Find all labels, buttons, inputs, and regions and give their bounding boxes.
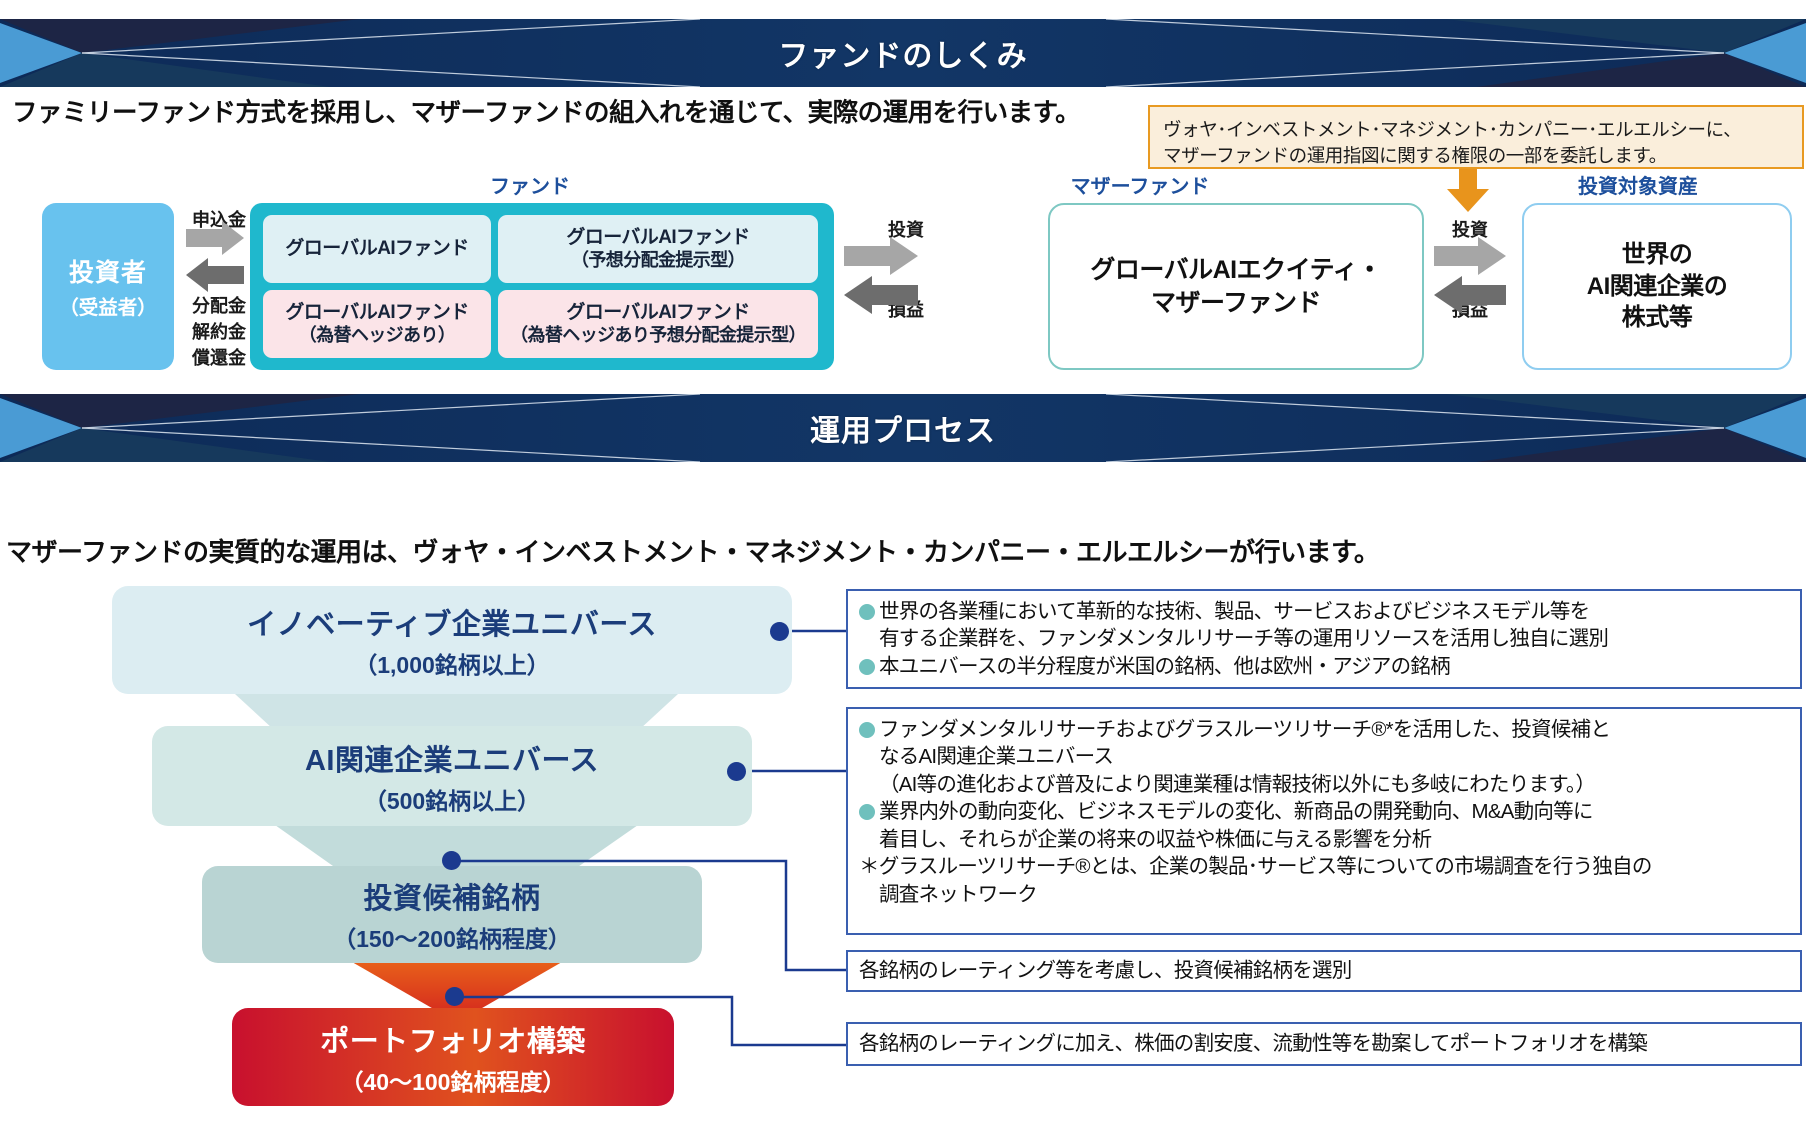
info-box-portfolio: 各銘柄のレーティングに加え、株価の割安度、流動性等を勘案してポートフォリオを構築 (846, 1022, 1802, 1066)
fund-cell-3: グローバルAIファンド （為替ヘッジあり予想分配金提示型） (498, 290, 818, 358)
funnel-stage-2: 投資候補銘柄 （150〜200銘柄程度） (202, 866, 702, 963)
connector-dot-2 (442, 851, 461, 870)
info-row: 各銘柄のレーティング等を考慮し、投資候補銘柄を選別 (859, 957, 1352, 984)
info-row-text: 各銘柄のレーティングに加え、株価の割安度、流動性等を勘案してポートフォリオを構築 (859, 1030, 1647, 1057)
investor-label-secondary: （受益者） (59, 291, 157, 320)
funnel-stage-3: ポートフォリオ構築 （40〜100銘柄程度） (232, 1008, 674, 1106)
fund-cell-3-sub: （為替ヘッジあり予想分配金提示型） (510, 325, 806, 347)
connector-dot-0 (770, 622, 789, 641)
fund-cell-1-sub: （予想分配金提示型） (571, 250, 745, 272)
info-row: ＊グラスルーツリサーチ®とは、企業の製品･サービス等についての市場調査を行う独自… (859, 853, 1790, 880)
funnel-stage-3-count: （40〜100銘柄程度） (341, 1063, 566, 1097)
flow-label-redemption: 解約金 (192, 318, 246, 344)
info-row-text: 世界の各業種において革新的な技術、製品、サービスおよびビジネスモデル等を (879, 598, 1589, 625)
funnel-stage-1: AI関連企業ユニバース （500銘柄以上） (152, 726, 752, 826)
target-asset-box: 世界の AI関連企業の 株式等 (1522, 203, 1792, 370)
flow-label-distribution: 分配金 (192, 292, 246, 318)
fund-cell-2-sub: （為替ヘッジあり） (299, 325, 456, 347)
info-box-ai-universe: ファンダメンタルリサーチおよびグラスルーツリサーチ®*を活用した、投資候補と な… (846, 707, 1802, 935)
flow-label-profit-1: 損益 (888, 296, 924, 322)
connector-dot-1 (727, 762, 746, 781)
info-box-universe: 世界の各業種において革新的な技術、製品、サービスおよびビジネスモデル等を 有する… (846, 589, 1802, 689)
bullet-icon (859, 604, 875, 620)
flow-label-invest-2: 投資 (1452, 216, 1488, 242)
section-title-investment-process: 運用プロセス (0, 394, 1806, 462)
fund-cell-3-name: グローバルAIファンド (566, 301, 749, 324)
callout-arrow-icon (1447, 169, 1489, 212)
bullet-icon (859, 722, 875, 738)
fund-cell-1-name: グローバルAIファンド (566, 226, 749, 249)
mother-fund-line-2: マザーファンド (1151, 287, 1321, 320)
info-row-text: 調査ネットワーク (879, 881, 1037, 908)
info-row: 調査ネットワーク (859, 881, 1790, 908)
bullet-icon (859, 804, 875, 820)
fund-structure-lead-text: ファミリーファンド方式を採用し、マザーファンドの組入れを通じて、実際の運用を行い… (12, 92, 1080, 129)
flow-label-maturity: 償還金 (192, 344, 246, 370)
info-row-text: ＊グラスルーツリサーチ®とは、企業の製品･サービス等についての市場調査を行う独自… (859, 853, 1652, 880)
target-asset-line-1: 世界の (1622, 239, 1693, 271)
info-row: （AI等の進化および普及により関連業種は情報技術以外にも多岐にわたります。） (859, 771, 1790, 798)
funnel-stage-1-title: AI関連企業ユニバース (305, 737, 599, 779)
info-row-text: ファンダメンタルリサーチおよびグラスルーツリサーチ®*を活用した、投資候補と (879, 716, 1610, 743)
info-row: 本ユニバースの半分程度が米国の銘柄、他は欧州・アジアの銘柄 (859, 653, 1790, 680)
mother-fund-box: グローバルAIエクイティ・ マザーファンド (1048, 203, 1424, 370)
fund-cell-0: グローバルAIファンド (263, 215, 491, 283)
investor-label-primary: 投資者 (69, 253, 147, 289)
info-row-text: 着目し、それらが企業の将来の収益や株価に与える影響を分析 (879, 826, 1431, 853)
funnel-stage-3-title: ポートフォリオ構築 (320, 1018, 586, 1060)
section-title-fund-structure: ファンドのしくみ (0, 19, 1806, 87)
connector-dot-3 (445, 987, 464, 1006)
info-row: ファンダメンタルリサーチおよびグラスルーツリサーチ®*を活用した、投資候補と (859, 716, 1790, 743)
info-row: なるAI関連企業ユニバース (859, 743, 1790, 770)
fund-cell-2: グローバルAIファンド （為替ヘッジあり） (263, 290, 491, 358)
info-row: 着目し、それらが企業の将来の収益や株価に与える影響を分析 (859, 826, 1790, 853)
info-row-text: 有する企業群を、ファンダメンタルリサーチ等の運用リソースを活用し独自に選別 (879, 625, 1608, 652)
mother-fund-line-1: グローバルAIエクイティ・ (1090, 254, 1381, 287)
bullet-icon (859, 659, 875, 675)
arrow-distribution-icon (186, 258, 244, 292)
info-row: 世界の各業種において革新的な技術、製品、サービスおよびビジネスモデル等を (859, 598, 1790, 625)
info-row: 業界内外の動向変化、ビジネスモデルの変化、新商品の開発動向、M&A動向等に (859, 798, 1790, 825)
target-asset-line-3: 株式等 (1622, 302, 1693, 334)
info-row-text: 業界内外の動向変化、ビジネスモデルの変化、新商品の開発動向、M&A動向等に (879, 798, 1593, 825)
info-row-text: （AI等の進化および普及により関連業種は情報技術以外にも多岐にわたります。） (879, 771, 1595, 798)
callout-line-1: ヴォヤ･インベストメント･マネジメント･カンパニー･エルエルシーに、 (1163, 117, 1790, 143)
fund-cell-0-name: グローバルAIファンド (285, 237, 468, 260)
fund-cell-1: グローバルAIファンド （予想分配金提示型） (498, 215, 818, 283)
info-row-text: 各銘柄のレーティング等を考慮し、投資候補銘柄を選別 (859, 957, 1352, 984)
callout-line-2: マザーファンドの運用指図に関する権限の一部を委託します。 (1163, 143, 1790, 169)
target-asset-line-2: AI関連企業の (1587, 271, 1728, 303)
flow-label-subscription: 申込金 (192, 206, 246, 232)
funnel-stage-1-count: （500銘柄以上） (364, 782, 540, 816)
flow-label-invest-1: 投資 (888, 216, 924, 242)
info-row: 有する企業群を、ファンダメンタルリサーチ等の運用リソースを活用し独自に選別 (859, 625, 1790, 652)
arrow-invest-2-icon (1434, 237, 1506, 275)
column-label-target-asset: 投資対象資産 (1528, 170, 1748, 199)
funnel-stage-2-title: 投資候補銘柄 (363, 875, 540, 917)
investment-process-lead-text: マザーファンドの実質的な運用は、ヴォヤ・インベストメント・マネジメント・カンパニ… (6, 532, 1379, 569)
section-banner-investment-process: 運用プロセス (0, 394, 1806, 462)
column-label-fund: ファンド (430, 170, 630, 199)
info-row: 各銘柄のレーティングに加え、株価の割安度、流動性等を勘案してポートフォリオを構築 (859, 1030, 1647, 1057)
funnel-stage-2-count: （150〜200銘柄程度） (333, 920, 571, 954)
info-row-text: なるAI関連企業ユニバース (879, 743, 1113, 770)
flow-label-profit-2: 損益 (1452, 296, 1488, 322)
section-banner-fund-structure: ファンドのしくみ (0, 19, 1806, 87)
fund-box: グローバルAIファンド グローバルAIファンド （予想分配金提示型） グローバル… (250, 203, 834, 370)
info-box-candidate: 各銘柄のレーティング等を考慮し、投資候補銘柄を選別 (846, 950, 1802, 992)
info-row-text: 本ユニバースの半分程度が米国の銘柄、他は欧州・アジアの銘柄 (879, 653, 1450, 680)
column-label-mother-fund: マザーファンド (1030, 170, 1250, 199)
funnel-stage-0-count: （1,000銘柄以上） (354, 646, 550, 680)
fund-cell-2-name: グローバルAIファンド (285, 301, 468, 324)
delegation-callout: ヴォヤ･インベストメント･マネジメント･カンパニー･エルエルシーに、 マザーファ… (1148, 105, 1804, 169)
investor-box: 投資者 （受益者） (42, 203, 174, 370)
funnel-stage-0: イノベーティブ企業ユニバース （1,000銘柄以上） (112, 586, 792, 694)
arrow-invest-1-icon (844, 237, 918, 275)
funnel-stage-0-title: イノベーティブ企業ユニバース (247, 601, 657, 643)
